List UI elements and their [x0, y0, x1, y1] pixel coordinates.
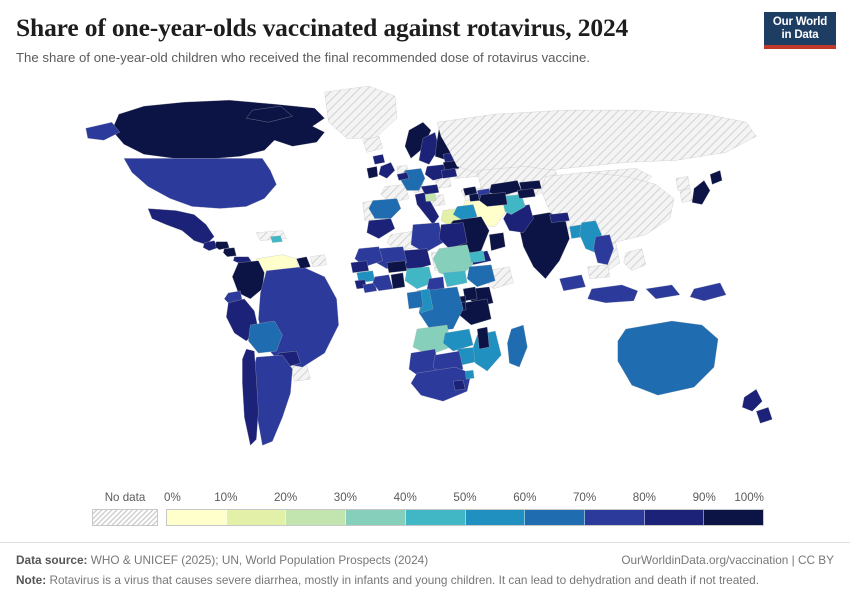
map-region-no-data[interactable]: [311, 255, 327, 267]
legend-bin-5[interactable]: [466, 510, 526, 525]
legend-bin-9[interactable]: [704, 510, 763, 525]
legend-bin-6[interactable]: [525, 510, 585, 525]
legend-tick-9: 90%: [693, 492, 716, 504]
map-country-libya[interactable]: Libya: 75%: [411, 223, 443, 253]
chart-footer: Data source: WHO & UNICEF (2025); UN, Wo…: [0, 542, 850, 600]
legend-tick-8: 80%: [633, 492, 656, 504]
map-country-russia[interactable]: Russia: No data: [437, 110, 756, 172]
map-region-no-data[interactable]: [290, 365, 310, 381]
chart-note-label: Note:: [16, 573, 46, 587]
map-country-dominican-republic[interactable]: Dominican Republic: 45%: [270, 236, 282, 243]
map-country-indonesia[interactable]: Indonesia: 76%: [560, 275, 680, 303]
world-map-svg[interactable]: Canada: 92%United States: 76%Mexico: 83%…: [0, 66, 850, 488]
map-country-malawi[interactable]: Malawi: 92%: [477, 327, 489, 349]
legend-bin-7[interactable]: [585, 510, 645, 525]
map-country-new-zealand[interactable]: New Zealand: 81%: [742, 389, 772, 423]
owid-link[interactable]: OurWorldinData.org/vaccination | CC BY: [621, 552, 834, 570]
chart-subtitle: The share of one-year-old children who r…: [16, 50, 834, 67]
legend-tick-2: 20%: [274, 492, 297, 504]
world-map[interactable]: Canada: 92%United States: 76%Mexico: 83%…: [0, 66, 850, 488]
map-country-burkina-faso[interactable]: Burkina Faso: 94%: [387, 261, 407, 273]
owid-chart: Share of one-year-olds vaccinated agains…: [0, 0, 850, 600]
legend-bin-1[interactable]: [227, 510, 287, 525]
map-region-no-data[interactable]: [363, 136, 383, 152]
chart-note: Note: Rotavirus is a virus that causes s…: [16, 572, 834, 590]
legend-tick-1: 10%: [214, 492, 237, 504]
legend-bin-3[interactable]: [346, 510, 406, 525]
map-country-argentina[interactable]: Argentina: 78%: [252, 355, 292, 445]
map-legend: No data 0%10%20%30%40%50%60%70%80%90%100…: [0, 488, 850, 540]
legend-tick-10: 100%: [734, 492, 764, 504]
chart-note-text: Rotavirus is a virus that causes severe …: [49, 573, 759, 587]
data-source-text: WHO & UNICEF (2025); UN, World Populatio…: [91, 553, 428, 567]
map-country-central-african-republic[interactable]: Central African Republic: 45%: [443, 271, 467, 287]
legend-color-bar[interactable]: [166, 509, 764, 526]
legend-bin-2[interactable]: [286, 510, 346, 525]
map-country-bolivia[interactable]: Bolivia: 64%: [248, 321, 282, 353]
data-source: Data source: WHO & UNICEF (2025); UN, Wo…: [16, 552, 428, 570]
chart-header: Share of one-year-olds vaccinated agains…: [0, 0, 850, 66]
map-region-no-data[interactable]: [325, 86, 397, 138]
owid-logo[interactable]: Our World in Data: [764, 12, 836, 49]
map-country-canada[interactable]: Canada: 92%: [112, 100, 325, 158]
legend-tick-5: 50%: [453, 492, 476, 504]
legend-tick-6: 60%: [513, 492, 536, 504]
legend-bin-0[interactable]: [167, 510, 227, 525]
page-title: Share of one-year-olds vaccinated agains…: [16, 14, 834, 43]
legend-tick-7: 70%: [573, 492, 596, 504]
map-country-japan[interactable]: Japan: 93%: [692, 170, 722, 204]
legend-tick-3: 30%: [334, 492, 357, 504]
legend-no-data-swatch[interactable]: [92, 509, 158, 526]
map-region-no-data[interactable]: [624, 249, 646, 271]
map-country-ghana[interactable]: Ghana: 91%: [391, 273, 405, 289]
map-region-no-data[interactable]: [588, 265, 610, 279]
map-country-gabon[interactable]: Gabon: 68%: [407, 291, 423, 309]
map-country-senegal[interactable]: Senegal: 88%: [351, 261, 369, 273]
map-country-eswatini[interactable]: Eswatini: 56%: [465, 370, 474, 379]
owid-logo-line1: Our World: [764, 16, 836, 29]
map-country-brazil[interactable]: Brazil: 79%: [258, 267, 338, 367]
legend-bin-8[interactable]: [645, 510, 705, 525]
map-country-spain[interactable]: Spain: 61%: [369, 199, 401, 219]
legend-ramp[interactable]: 0%10%20%30%40%50%60%70%80%90%100%: [166, 492, 764, 526]
map-country-madagascar[interactable]: Madagascar: 61%: [507, 325, 527, 367]
legend-tick-4: 40%: [394, 492, 417, 504]
legend-no-data[interactable]: No data: [92, 492, 158, 527]
map-country-papua-new-guinea[interactable]: Papua New Guinea: 74%: [690, 283, 726, 301]
map-country-slovenia[interactable]: Slovenia: 22%: [425, 194, 436, 202]
map-country-guyana[interactable]: Guyana: 94%: [297, 257, 311, 269]
legend-tick-labels: 0%10%20%30%40%50%60%70%80%90%100%: [166, 492, 764, 507]
map-country-nicaragua[interactable]: Nicaragua: 95%: [223, 248, 236, 257]
legend-bin-4[interactable]: [406, 510, 466, 525]
map-country-eritrea[interactable]: Eritrea: 47%: [469, 251, 485, 263]
data-source-label: Data source:: [16, 553, 87, 567]
map-country-mexico[interactable]: Mexico: 83%: [148, 209, 214, 245]
legend-no-data-label: No data: [92, 492, 158, 504]
map-country-lesotho[interactable]: Lesotho: 88%: [453, 380, 465, 390]
map-country-australia[interactable]: Australia: 66%: [618, 321, 718, 395]
map-region-no-data[interactable]: [676, 176, 690, 190]
map-country-oman[interactable]: Oman: 95%: [489, 233, 505, 251]
legend-tick-0: 0%: [164, 492, 181, 504]
owid-logo-line2: in Data: [764, 29, 836, 42]
map-region-no-data[interactable]: [680, 189, 692, 203]
map-country-ireland[interactable]: Ireland: 91%: [367, 166, 378, 178]
